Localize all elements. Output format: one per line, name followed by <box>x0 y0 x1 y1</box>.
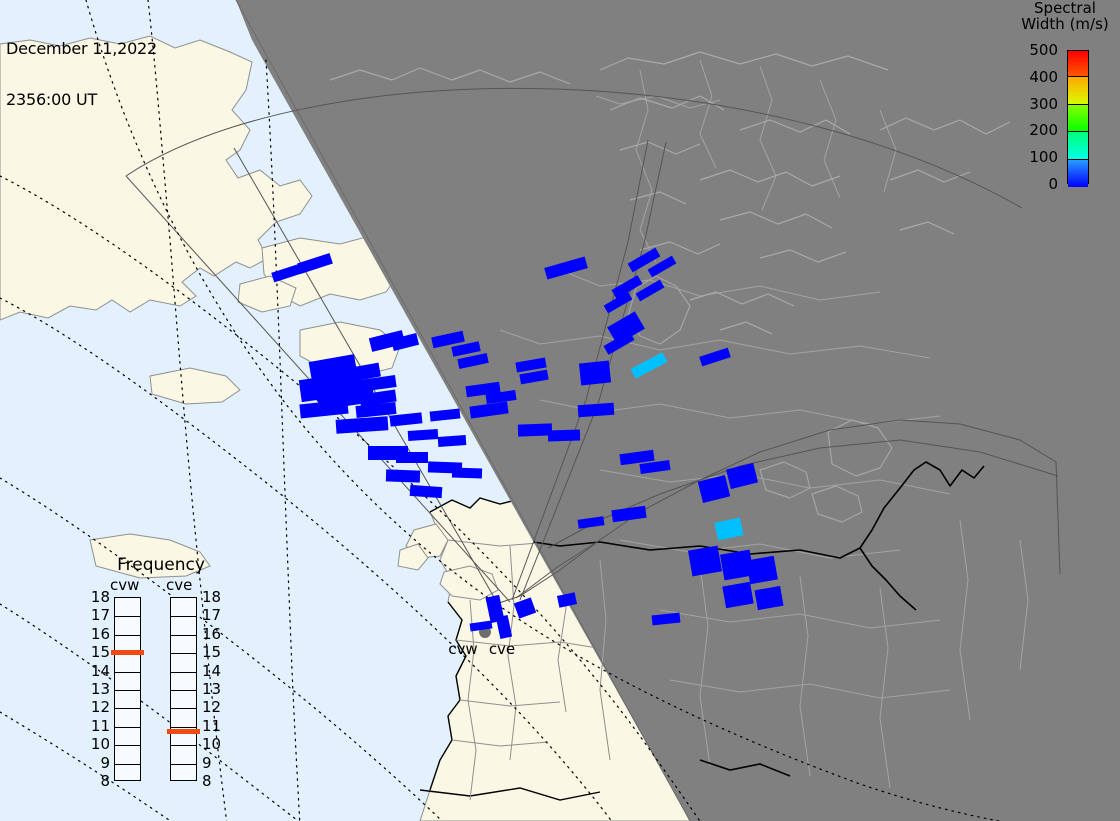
colorbar-tick-100: 100 <box>1029 150 1058 165</box>
colorbar-gradient <box>1067 50 1089 184</box>
frequency-axis-label-right-17: 17 <box>202 608 226 623</box>
frequency-tick-rule <box>171 690 196 691</box>
colorbar-title-line2: Width (m/s) <box>1010 16 1120 32</box>
frequency-tick-rule <box>115 635 140 636</box>
colorbar-tick-300: 300 <box>1029 97 1058 112</box>
frequency-axis-label-right-10: 10 <box>202 737 226 752</box>
frequency-tick-rule <box>171 708 196 709</box>
timestamp-time: 2356:00 UT <box>6 91 157 108</box>
frequency-marker-cvw <box>111 650 144 655</box>
colorbar-title-line1: Spectral <box>1010 0 1120 16</box>
frequency-tick-rule <box>115 690 140 691</box>
colorbar-tick-0: 0 <box>1048 177 1058 192</box>
frequency-tick-rule <box>115 708 140 709</box>
backscatter-cell <box>408 429 439 441</box>
backscatter-cell <box>548 429 580 441</box>
frequency-axis-label-left-10: 10 <box>86 737 110 752</box>
frequency-marker-cve <box>167 729 200 734</box>
frequency-axis-label-right-9: 9 <box>202 756 226 771</box>
colorbar-band-400-500 <box>1068 51 1088 77</box>
frequency-axis-label-right-14: 14 <box>202 664 226 679</box>
frequency-axis-label-left-12: 12 <box>86 700 110 715</box>
backscatter-cell <box>410 485 443 498</box>
backscatter-cell <box>438 435 467 447</box>
frequency-axis-label-left-9: 9 <box>86 756 110 771</box>
frequency-panel-title: Frequency <box>86 556 236 574</box>
frequency-tick-rule <box>115 745 140 746</box>
frequency-tick-rule <box>115 727 140 728</box>
timestamp-date: December 11,2022 <box>6 40 157 57</box>
frequency-axis-label-right-12: 12 <box>202 700 226 715</box>
frequency-axis-label-left-14: 14 <box>86 664 110 679</box>
colorbar-title: Spectral Width (m/s) <box>1010 0 1120 32</box>
frequency-axis-label-left-11: 11 <box>86 719 110 734</box>
backscatter-cell <box>396 452 428 463</box>
frequency-tick-rule <box>171 727 196 728</box>
frequency-panel: Frequency cvw cve 1818171716161515141413… <box>86 556 236 801</box>
frequency-axis-label-right-11: 11 <box>202 719 226 734</box>
frequency-axis-label-right-16: 16 <box>202 627 226 642</box>
frequency-axis-label-right-18: 18 <box>202 590 226 605</box>
map-station-label-cve: cve <box>489 640 515 658</box>
backscatter-cell <box>518 423 552 436</box>
frequency-axis-label-right-15: 15 <box>202 645 226 660</box>
frequency-axis-label-left-13: 13 <box>86 682 110 697</box>
timestamp-overlay: December 11,2022 2356:00 UT <box>6 6 157 142</box>
radar-fan-plot: cvwcve December 11,2022 2356:00 UT Spect… <box>0 0 1120 821</box>
frequency-bar-cvw[interactable] <box>114 597 141 781</box>
colorbar-tick-200: 200 <box>1029 123 1058 138</box>
frequency-axis-label-left-17: 17 <box>86 608 110 623</box>
frequency-tick-rule <box>115 764 140 765</box>
frequency-tick-rule <box>115 616 140 617</box>
frequency-axis-label-left-8: 8 <box>86 774 110 789</box>
frequency-tick-rule <box>171 764 196 765</box>
backscatter-cell <box>579 360 611 385</box>
backscatter-cell <box>452 467 482 478</box>
backscatter-cell <box>688 546 722 577</box>
frequency-axis-label-right-13: 13 <box>202 682 226 697</box>
colorbar-band-0-100 <box>1068 159 1088 187</box>
colorbar-tick-500: 500 <box>1029 43 1058 58</box>
frequency-tick-rule <box>115 672 140 673</box>
backscatter-cell <box>746 556 778 584</box>
frequency-tick-rule <box>171 653 196 654</box>
colorbar-band-200-300 <box>1068 104 1088 132</box>
colorbar-band-300-400 <box>1068 76 1088 104</box>
frequency-tick-rule <box>171 672 196 673</box>
frequency-label-cve: cve <box>166 577 192 593</box>
frequency-label-cvw: cvw <box>110 577 139 593</box>
frequency-tick-rule <box>171 616 196 617</box>
colorbar: Spectral Width (m/s) 5004003002001000 <box>1010 0 1120 200</box>
colorbar-tick-400: 400 <box>1029 70 1058 85</box>
map-station-label-cvw: cvw <box>448 640 477 658</box>
backscatter-cell <box>386 469 420 482</box>
frequency-tick-rule <box>171 745 196 746</box>
frequency-axis-label-left-16: 16 <box>86 627 110 642</box>
frequency-axis-label-left-15: 15 <box>86 645 110 660</box>
colorbar-tick-labels: 5004003002001000 <box>1010 40 1062 194</box>
backscatter-cell <box>578 403 615 417</box>
frequency-axis-label-right-8: 8 <box>202 774 226 789</box>
colorbar-band-100-200 <box>1068 131 1088 159</box>
frequency-axis-label-left-18: 18 <box>86 590 110 605</box>
frequency-tick-rule <box>171 635 196 636</box>
frequency-bar-cve[interactable] <box>170 597 197 781</box>
